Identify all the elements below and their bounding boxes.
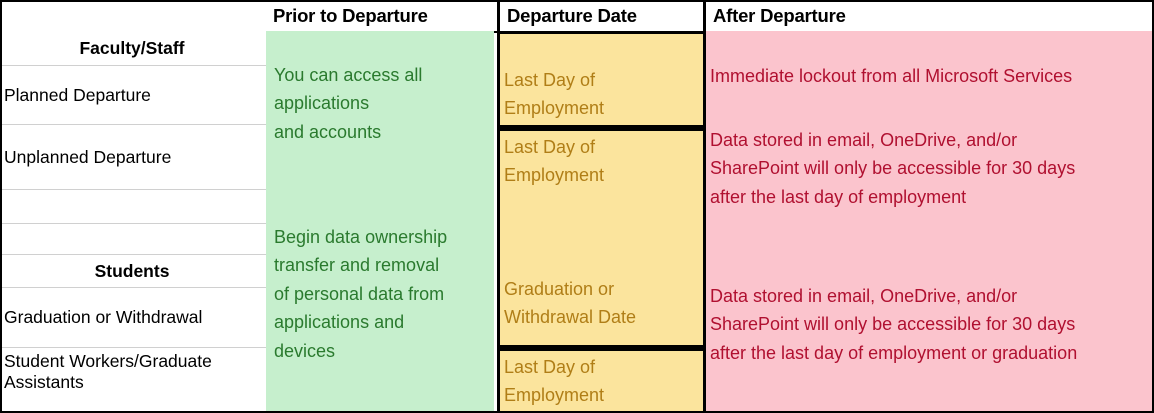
- prior-line-5: transfer and removal: [274, 251, 486, 279]
- prior-line-1: You can access all: [274, 61, 486, 89]
- departure-date-line-1: Last Day of: [504, 66, 699, 94]
- prior-line-3: and accounts: [274, 118, 486, 146]
- departure-date-line-5: Graduation or: [504, 275, 699, 303]
- prior-line-6: of personal data from: [274, 280, 486, 308]
- departure-date-line-4: Employment: [504, 161, 699, 189]
- category-item-graduation-or-withdrawal: Graduation or Withdrawal: [0, 288, 266, 348]
- category-item-unplanned-departure: Unplanned Departure: [0, 125, 266, 190]
- prior-to-departure-text-block-1: You can access all applications and acco…: [266, 61, 494, 161]
- after-departure-line-3: SharePoint will only be accessible for 3…: [710, 154, 1150, 182]
- prior-to-departure-text-block-2: Begin data ownership transfer and remova…: [266, 223, 494, 383]
- after-departure-line-4: after the last day of employment: [710, 183, 1150, 211]
- category-row-empty-2: [0, 224, 266, 255]
- prior-line-2: applications: [274, 89, 486, 117]
- departure-date-line-6: Withdrawal Date: [504, 303, 699, 331]
- after-departure-cell-1: Immediate lockout from all Microsoft Ser…: [706, 62, 1154, 96]
- header-cell-blank: [0, 0, 266, 31]
- prior-line-4: Begin data ownership: [274, 223, 486, 251]
- departure-date-line-8: Employment: [504, 381, 699, 409]
- departure-date-cell-planned: Last Day of Employment: [497, 31, 706, 128]
- header-after-departure: After Departure: [706, 0, 1154, 31]
- departure-date-cell-student-workers: Last Day of Employment: [497, 348, 706, 413]
- departure-date-cell-unplanned: Last Day of Employment Graduation or Wit…: [497, 128, 706, 348]
- category-group-faculty-staff: Faculty/Staff: [0, 31, 266, 66]
- after-departure-line-7: after the last day of employment or grad…: [710, 339, 1150, 367]
- departure-date-line-3: Last Day of: [504, 133, 699, 161]
- after-departure-cell-3: Data stored in email, OneDrive, and/or S…: [706, 282, 1154, 377]
- after-departure-cell-2: Data stored in email, OneDrive, and/or S…: [706, 126, 1154, 221]
- divider-departure-after: [703, 0, 706, 413]
- departure-date-line-7: Last Day of: [504, 353, 699, 381]
- after-departure-line-1: Immediate lockout from all Microsoft Ser…: [710, 62, 1150, 90]
- header-prior-to-departure: Prior to Departure: [266, 0, 500, 31]
- departure-date-spacer-1: [504, 190, 699, 275]
- category-row-empty-1: [0, 190, 266, 224]
- prior-line-7: applications and: [274, 308, 486, 336]
- after-departure-line-5: Data stored in email, OneDrive, and/or: [710, 282, 1150, 310]
- category-item-planned-departure: Planned Departure: [0, 66, 266, 125]
- departure-access-table: Prior to Departure Departure Date After …: [0, 0, 1154, 413]
- category-group-students: Students: [0, 255, 266, 288]
- divider-prior-departure: [497, 0, 500, 413]
- after-departure-line-2: Data stored in email, OneDrive, and/or: [710, 126, 1150, 154]
- after-departure-line-6: SharePoint will only be accessible for 3…: [710, 310, 1150, 338]
- departure-date-line-2: Employment: [504, 94, 699, 122]
- category-item-student-workers-graduate-assistants: Student Workers/Graduate Assistants: [0, 348, 266, 413]
- prior-line-8: devices: [274, 337, 486, 365]
- header-departure-date: Departure Date: [500, 0, 706, 31]
